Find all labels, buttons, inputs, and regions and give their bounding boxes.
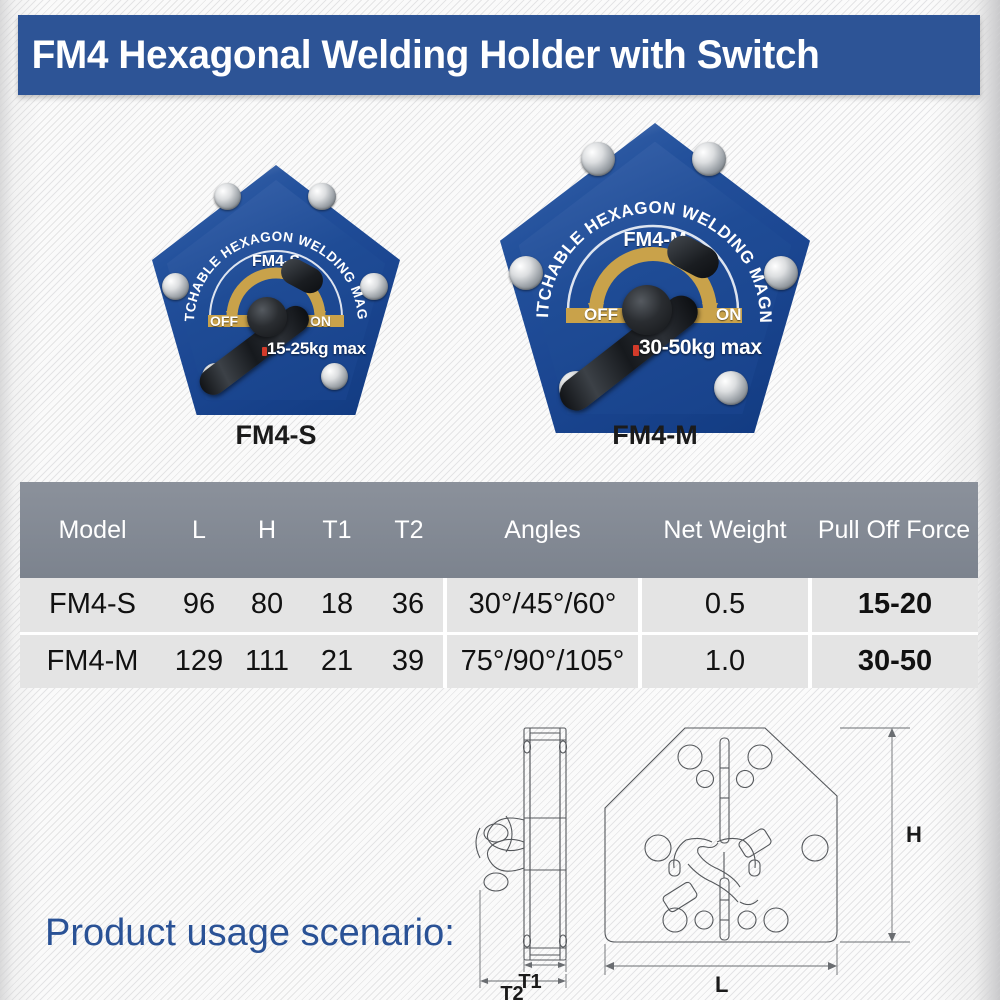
switch-hub-s <box>247 297 287 337</box>
dim-label-l: L <box>715 972 728 997</box>
technical-drawing: H L T1 T2 <box>440 700 985 1000</box>
technical-drawing-svg: H L T1 T2 <box>440 700 985 1000</box>
cell-model: FM4-M <box>20 633 165 688</box>
cell-t1: 18 <box>301 578 373 633</box>
drawing-side-view <box>476 728 567 960</box>
cell-l: 129 <box>165 633 233 688</box>
cell-h: 80 <box>233 578 301 633</box>
table-header: Model L H T1 T2 Angles Net Weight Pull O… <box>20 482 978 578</box>
col-header-t2: T2 <box>373 482 445 578</box>
table-header-row: Model L H T1 T2 Angles Net Weight Pull O… <box>20 482 978 578</box>
cell-l: 96 <box>165 578 233 633</box>
cell-angles: 30°/45°/60° <box>445 578 640 633</box>
on-label-s: ON <box>310 313 331 329</box>
face-arc-text-s: SWITCHABLE HEXAGON WELDING MAGNET <box>152 165 400 415</box>
capacity-label-m: 30-50kg max <box>639 336 762 360</box>
cell-t1: 21 <box>301 633 373 688</box>
cell-pull-off-force: 15-20 <box>810 578 978 633</box>
model-label-m: FM4-M <box>500 229 810 252</box>
page-header-bar: FM4 Hexagonal Welding Holder with Switch <box>18 15 980 95</box>
cell-angles: 75°/90°/105° <box>445 633 640 688</box>
model-label-s: FM4-S <box>152 253 400 271</box>
dim-label-t2: T2 <box>500 983 523 1000</box>
switch-hub-m <box>622 285 672 335</box>
dimension-h <box>840 728 910 942</box>
product-caption-fm4-s: FM4-S <box>152 420 400 451</box>
table-row: FM4-S 96 80 18 36 30°/45°/60° 0.5 15-20 <box>20 578 978 633</box>
col-header-t1: T1 <box>301 482 373 578</box>
table-row: FM4-M 129 111 21 39 75°/90°/105° 1.0 30-… <box>20 633 978 688</box>
specification-table: Model L H T1 T2 Angles Net Weight Pull O… <box>20 482 978 688</box>
product-photo-area: SWITCHABLE HEXAGON WELDING MAGNET FM4-S … <box>0 105 1000 465</box>
on-label-m: ON <box>716 305 742 325</box>
drawing-front-view <box>605 728 837 942</box>
cell-h: 111 <box>233 633 301 688</box>
dim-label-h: H <box>906 822 922 847</box>
off-label-m: OFF <box>584 305 618 325</box>
product-caption-fm4-m: FM4-M <box>530 420 780 451</box>
table-body: FM4-S 96 80 18 36 30°/45°/60° 0.5 15-20 … <box>20 578 978 688</box>
col-header-h: H <box>233 482 301 578</box>
cell-model: FM4-S <box>20 578 165 633</box>
col-header-pull-off-force: Pull Off Force <box>810 482 978 578</box>
product-image-fm4-s: SWITCHABLE HEXAGON WELDING MAGNET FM4-S … <box>152 165 400 415</box>
col-header-net-weight: Net Weight <box>640 482 810 578</box>
cell-t2: 39 <box>373 633 445 688</box>
capacity-label-s: 15-25kg max <box>267 339 366 359</box>
col-header-model: Model <box>20 482 165 578</box>
cell-t2: 36 <box>373 578 445 633</box>
col-header-l: L <box>165 482 233 578</box>
dimension-l <box>605 944 837 975</box>
usage-scenario-label: Product usage scenario: <box>45 912 455 955</box>
cell-net-weight: 1.0 <box>640 633 810 688</box>
cell-pull-off-force: 30-50 <box>810 633 978 688</box>
col-header-angles: Angles <box>445 482 640 578</box>
cell-net-weight: 0.5 <box>640 578 810 633</box>
product-image-fm4-m: SWITCHABLE HEXAGON WELDING MAGNET FM4-M … <box>500 123 810 433</box>
page-title: FM4 Hexagonal Welding Holder with Switch <box>18 33 819 78</box>
off-label-s: OFF <box>210 313 238 329</box>
face-arc-text-m: SWITCHABLE HEXAGON WELDING MAGNET <box>500 123 810 433</box>
